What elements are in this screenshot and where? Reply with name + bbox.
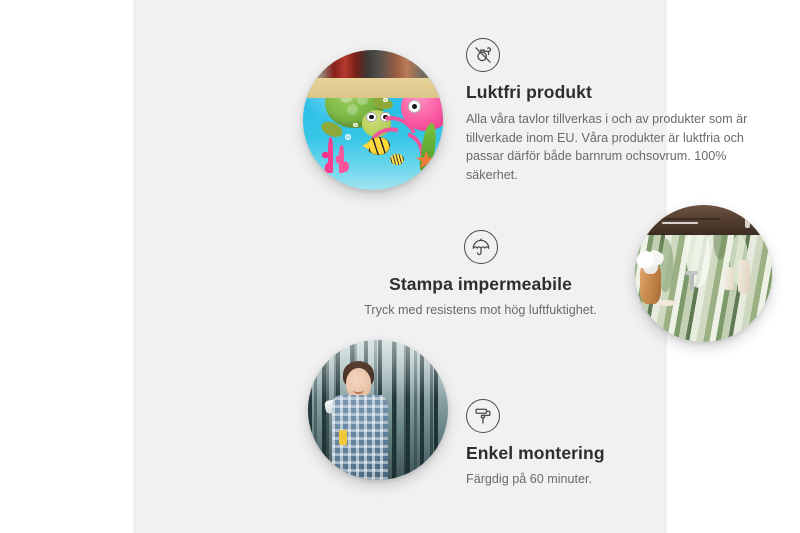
image-underwater-mural: Cartoon underwater scene with sea turtle…	[303, 50, 443, 190]
vanity-cabinet	[635, 205, 772, 235]
feature-waterproof-print: Stampa impermeabile Tryck med resistens …	[338, 230, 623, 320]
drawer-handle	[662, 222, 698, 223]
pink-coral	[317, 128, 356, 173]
roller-grip	[339, 430, 347, 445]
drawer-seam	[654, 218, 720, 220]
cabinet-handle	[745, 214, 750, 228]
feature-waterproof-print-body: Tryck med resistens mot hög luftfuktighe…	[338, 301, 623, 320]
feature-odour-free-title: Luktfri produkt	[466, 82, 758, 103]
image-bathroom-vanity: Bathroom vanity with green tropical leaf…	[635, 205, 772, 342]
umbrella-icon	[464, 230, 498, 264]
feature-easy-mounting: Enkel montering Färgdig på 60 minuter.	[466, 399, 736, 489]
feature-easy-mounting-title: Enkel montering	[466, 443, 736, 464]
white-flowers	[636, 250, 666, 273]
no-fragrance-icon	[466, 38, 500, 72]
screenshot-stage: Cartoon underwater scene with sea turtle…	[0, 0, 800, 533]
yellow-striped-fish	[367, 137, 389, 155]
image-forest-woman: Smiling woman holding a paint roller in …	[308, 340, 448, 480]
toiletry-bottle	[724, 267, 734, 290]
woman-smile	[353, 386, 364, 394]
feature-waterproof-print-title: Stampa impermeabile	[338, 274, 623, 295]
feature-odour-free-body: Alla våra tavlor tillverkas i och av pro…	[466, 110, 758, 184]
toiletry-bottle	[738, 260, 750, 293]
faucet	[690, 271, 694, 290]
paint-roller-icon	[466, 399, 500, 433]
photo-strip-overlay	[303, 50, 443, 78]
small-fish	[390, 154, 404, 165]
feature-odour-free: Luktfri produkt Alla våra tavlor tillver…	[466, 38, 758, 184]
feature-easy-mounting-body: Färgdig på 60 minuter.	[466, 470, 736, 489]
content-panel: Cartoon underwater scene with sea turtle…	[133, 0, 667, 533]
